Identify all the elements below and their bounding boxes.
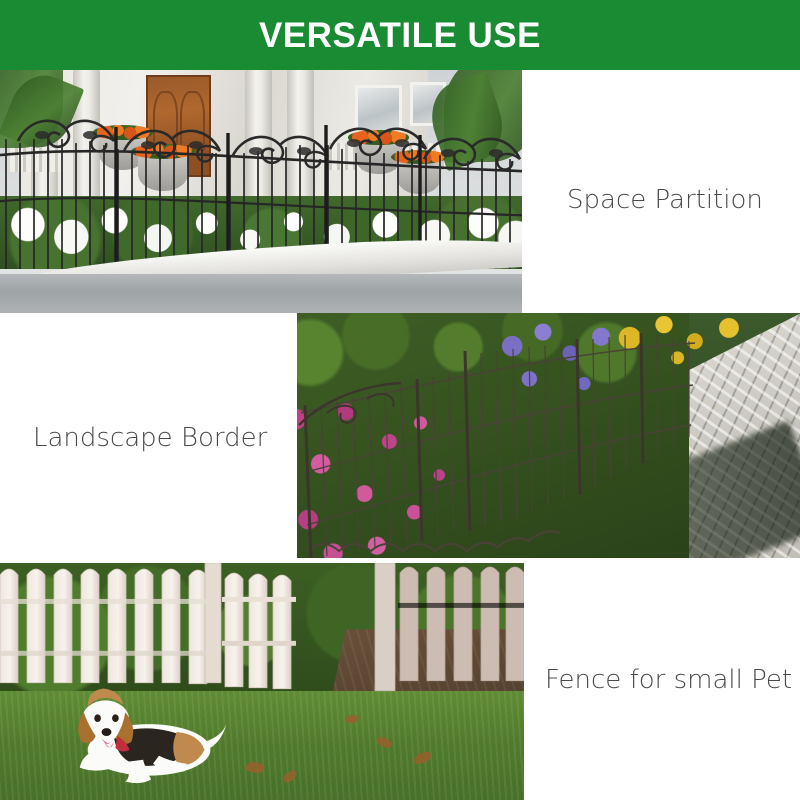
header-banner: VERSATILE USE <box>0 0 800 70</box>
caption-landscape-border: Landscape Border <box>33 423 267 453</box>
panel-landscape-border-image <box>297 313 800 558</box>
beagle-dog <box>58 667 236 786</box>
caption-fence-for-small-pet: Fence for small Pet <box>545 665 792 695</box>
panel-space-partition-image <box>0 70 522 313</box>
driveway <box>0 274 522 313</box>
caption-space-partition: Space Partition <box>567 185 763 215</box>
infographic-stage: VERSATILE USE <box>0 0 800 800</box>
wire-border-fence <box>297 313 800 558</box>
scene-beagle-picket-fence <box>0 563 524 800</box>
scene-mansion-iron-fence <box>0 70 522 313</box>
scene-garden-wire-fence <box>297 313 800 558</box>
page-title: VERSATILE USE <box>259 18 541 53</box>
panel-fence-for-small-pet-image <box>0 563 524 800</box>
